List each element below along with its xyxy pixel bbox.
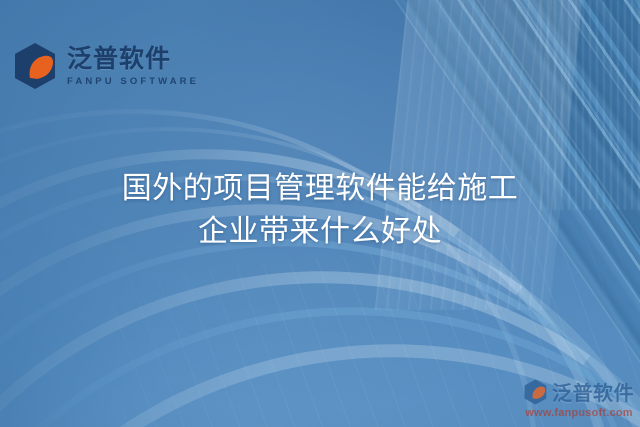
watermark-logo-icon	[524, 379, 548, 405]
logo-company-name-cn: 泛普软件	[67, 46, 199, 71]
fanpu-logo: 泛普软件 FANPU SOFTWARE	[14, 42, 199, 90]
banner-title: 国外的项目管理软件能给施工 企业带来什么好处	[0, 168, 640, 253]
banner-title-line-2: 企业带来什么好处	[60, 211, 580, 254]
banner-image: 泛普软件 FANPU SOFTWARE 国外的项目管理软件能给施工 企业带来什么…	[0, 0, 640, 427]
fanpu-logo-wordmark: 泛普软件 FANPU SOFTWARE	[67, 46, 199, 87]
banner-title-line-1: 国外的项目管理软件能给施工	[60, 168, 580, 211]
watermark: 泛普软件 www.fanpusoft.com	[524, 377, 634, 419]
watermark-company-name: 泛普软件	[552, 377, 634, 406]
fanpu-logo-icon	[14, 42, 58, 90]
watermark-logo-row: 泛普软件	[524, 377, 634, 406]
logo-company-name-en: FANPU SOFTWARE	[67, 77, 199, 87]
watermark-url: www.fanpusoft.com	[525, 407, 633, 419]
